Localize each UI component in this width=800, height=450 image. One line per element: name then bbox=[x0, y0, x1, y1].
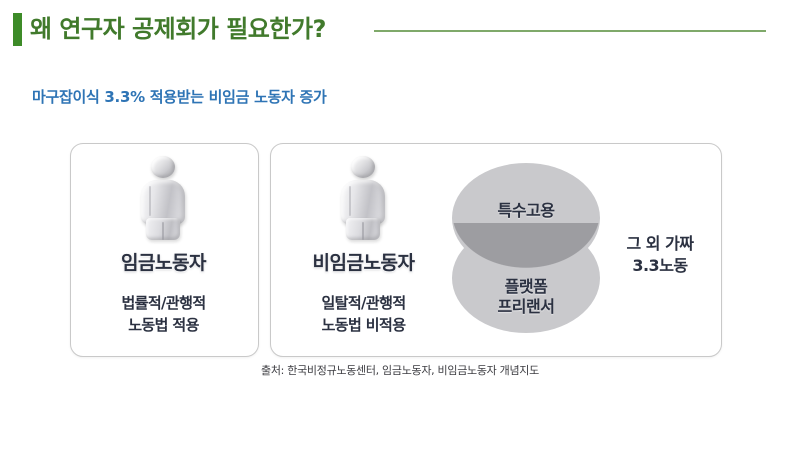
venn-diagram: 특수고용 플랫폼 프리랜서 bbox=[452, 163, 600, 333]
person-leg-detail bbox=[362, 222, 364, 240]
person-figure-icon bbox=[134, 156, 192, 240]
card-wage-subtext-line2: 노동법 적용 bbox=[70, 314, 257, 336]
venn-label-platform-line1: 플랫폼 bbox=[452, 277, 600, 297]
venn-label-special-employment: 특수고용 bbox=[452, 201, 600, 221]
person-head-icon bbox=[351, 156, 375, 178]
venn-label-platform-freelancer: 플랫폼 프리랜서 bbox=[452, 277, 600, 317]
venn-label-platform-line2: 프리랜서 bbox=[452, 297, 600, 317]
card-wage-subtext-line1: 법률적/관행적 bbox=[70, 292, 257, 314]
card-wage-heading: 임금노동자 bbox=[70, 248, 257, 275]
person-figure-icon bbox=[334, 156, 392, 240]
other-fake-labour-line1: 그 외 가짜 bbox=[600, 233, 720, 255]
card-nonwage-subtext-line1: 일탈적/관행적 bbox=[270, 292, 457, 314]
concept-diagram: 임금노동자 법률적/관행적 노동법 적용 비임금노동자 일탈적/관행적 노동법 … bbox=[0, 0, 800, 450]
venn-overlap-region bbox=[452, 223, 600, 273]
card-nonwage-subtext: 일탈적/관행적 노동법 비적용 bbox=[270, 292, 457, 336]
person-head-icon bbox=[151, 156, 175, 178]
person-arm-detail bbox=[349, 186, 351, 216]
other-fake-labour-line2: 3.3노동 bbox=[600, 255, 720, 277]
card-wage-subtext: 법률적/관행적 노동법 적용 bbox=[70, 292, 257, 336]
other-fake-labour-label: 그 외 가짜 3.3노동 bbox=[600, 233, 720, 277]
card-nonwage-heading: 비임금노동자 bbox=[270, 248, 457, 275]
card-nonwage-subtext-line2: 노동법 비적용 bbox=[270, 314, 457, 336]
source-note: 출처: 한국비정규노동센터, 임금노동자, 비임금노동자 개념지도 bbox=[200, 362, 600, 378]
person-leg-detail bbox=[162, 222, 164, 240]
person-arm-detail bbox=[149, 186, 151, 216]
